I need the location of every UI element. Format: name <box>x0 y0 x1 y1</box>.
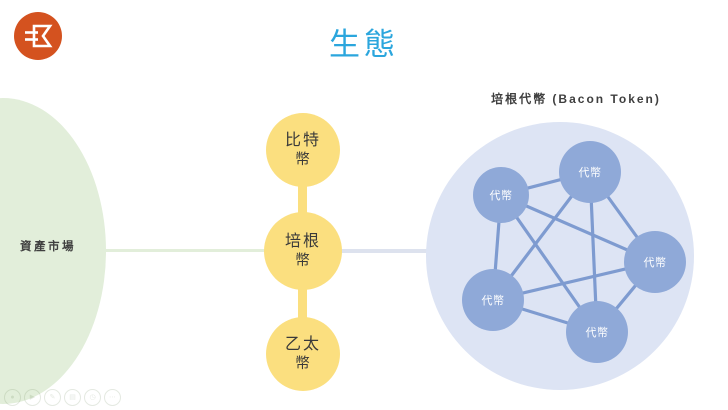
network-graph-svg: 代幣代幣代幣代幣代幣 <box>426 122 712 408</box>
coin-label-line1: 乙太 <box>285 335 321 355</box>
coin-node-bitcoin[interactable]: 比特 幣 <box>266 113 340 187</box>
connector-asset-to-bacon <box>96 249 268 252</box>
network-node-label: 代幣 <box>644 256 667 269</box>
presentation-toolbar[interactable]: ● ▶ ✎ ▤ ◷ ⋯ <box>4 389 121 406</box>
network-diagram: 代幣代幣代幣代幣代幣 <box>426 122 712 408</box>
notes-button[interactable]: ▤ <box>64 389 81 406</box>
coin-label-line1: 比特 <box>285 131 321 151</box>
network-title: 培根代幣 (Bacon Token) <box>432 90 720 107</box>
network-node-label: 代幣 <box>490 189 513 202</box>
asset-market-label: 資產市場 <box>0 238 96 254</box>
page-title: 生態 <box>0 26 728 63</box>
coin-label-line2: 幣 <box>295 355 311 373</box>
record-button[interactable]: ● <box>4 389 21 406</box>
more-button[interactable]: ⋯ <box>104 389 121 406</box>
network-node-label: 代幣 <box>579 166 602 179</box>
slide-canvas: 資產市場 生態 比特 幣 培根 幣 乙太 幣 培根代幣 (Bacon Token… <box>0 0 728 410</box>
coin-label-line1: 培根 <box>285 232 321 252</box>
coin-label-line2: 幣 <box>295 151 311 169</box>
coin-label-line2: 幣 <box>295 252 311 270</box>
network-node-label: 代幣 <box>586 326 609 339</box>
network-node-label: 代幣 <box>482 294 505 307</box>
pen-button[interactable]: ✎ <box>44 389 61 406</box>
play-button[interactable]: ▶ <box>24 389 41 406</box>
coin-node-ethereum[interactable]: 乙太 幣 <box>266 317 340 391</box>
coin-node-bacon[interactable]: 培根 幣 <box>264 212 342 290</box>
timer-button[interactable]: ◷ <box>84 389 101 406</box>
